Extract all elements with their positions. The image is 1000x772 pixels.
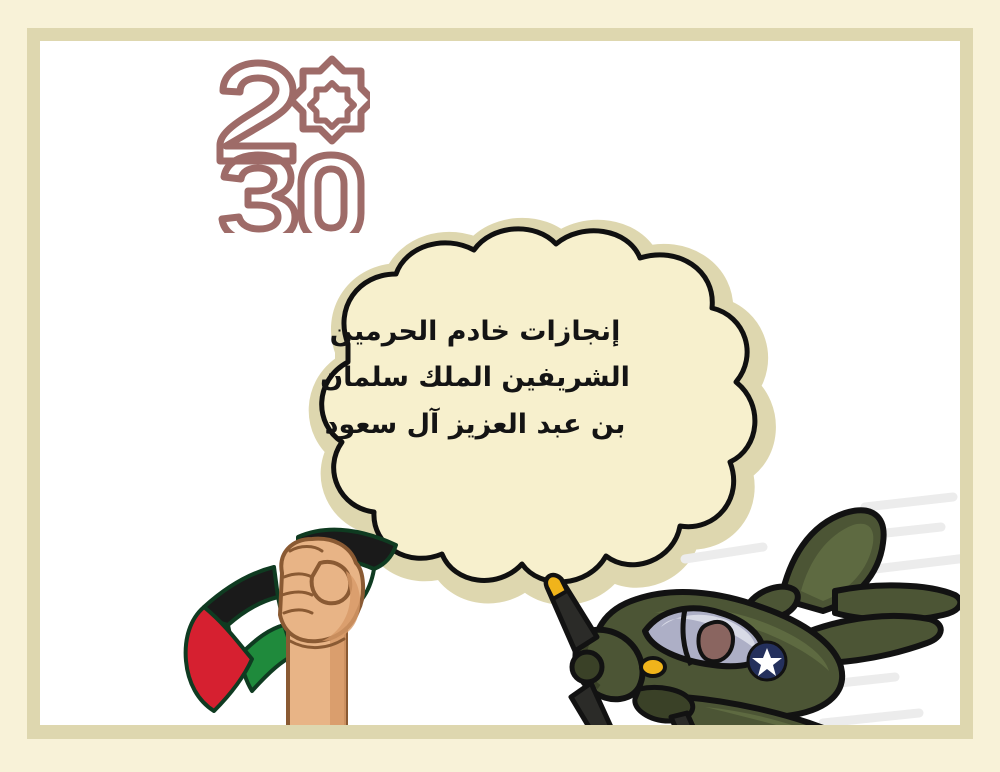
vision-2030-logo — [210, 53, 370, 233]
nose-accent — [641, 658, 665, 676]
poster-inner-canvas: إنجازات خادم الحرمين الشريفين الملك سلما… — [40, 41, 960, 725]
speech-bubble-text: إنجازات خادم الحرمين الشريفين الملك سلما… — [275, 309, 675, 448]
bubble-text-line-2: الشريفين الملك سلمان — [275, 355, 675, 401]
pilot — [699, 622, 734, 661]
bubble-text-line-3: بن عبد العزيز آل سعود — [275, 402, 675, 448]
bubble-text-line-1: إنجازات خادم الحرمين — [275, 309, 675, 355]
thumb — [312, 562, 351, 603]
airplane-illustration — [535, 491, 960, 725]
poster-canvas: إنجازات خادم الحرمين الشريفين الملك سلما… — [0, 0, 1000, 772]
star-roundel-icon — [748, 642, 786, 680]
logo-digit-2-outline — [220, 63, 293, 161]
raised-fist-flag-illustration — [170, 511, 440, 725]
logo-islamic-star-inner-icon — [310, 83, 354, 127]
propeller-hub — [572, 652, 602, 682]
